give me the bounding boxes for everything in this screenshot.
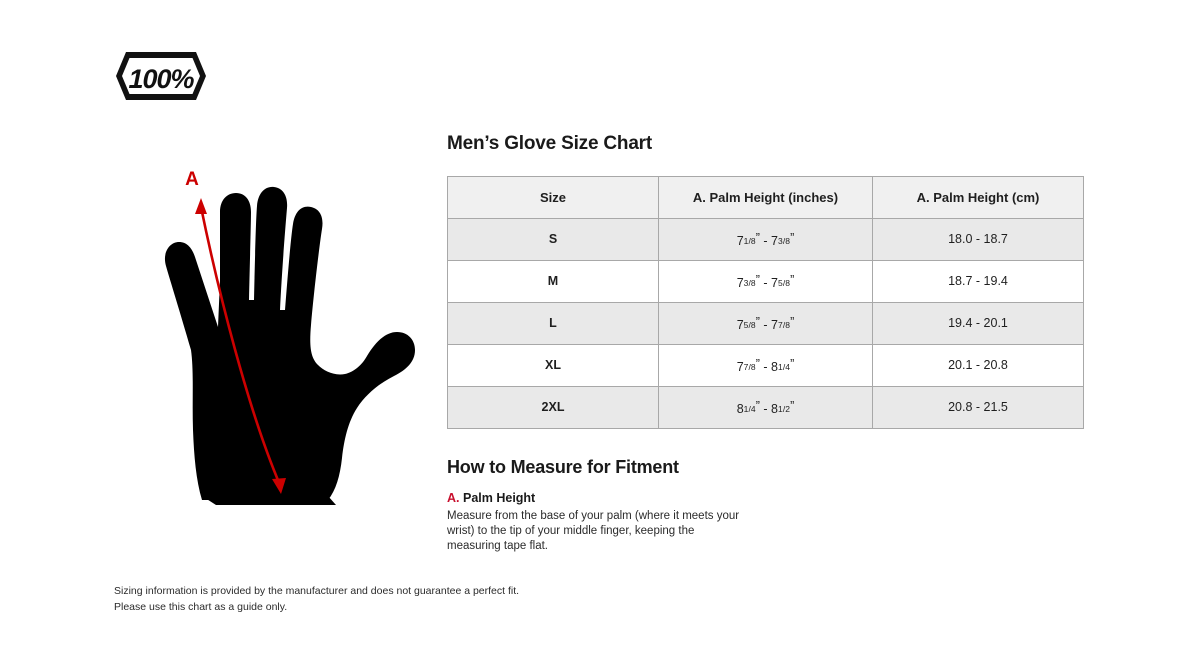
cell-cm: 18.7 - 19.4 [873,260,1084,302]
disclaimer-note: Sizing information is provided by the ma… [114,583,519,616]
column-header-cm: A. Palm Height (cm) [873,176,1084,218]
inches-frac-low: 5/8 [744,320,756,330]
inch-mark: ” [790,231,794,245]
inches-frac-high: 7/8 [778,320,790,330]
cell-inches: 75/8” - 77/8” [659,302,873,344]
cell-inches: 81/4” - 81/2” [659,386,873,428]
inches-frac-high: 1/2 [778,404,790,414]
inches-whole-low: 7 [737,234,744,248]
inches-whole-low: 7 [737,276,744,290]
inch-mark: ” [756,315,760,329]
inches-frac-low: 7/8 [744,362,756,372]
cell-size: XL [448,344,659,386]
glove-silhouette-icon [165,187,415,500]
measure-entry-text: Measure from the base of your palm (wher… [447,509,747,555]
column-header-size: Size [448,176,659,218]
inches-whole-high: 8 [771,402,778,416]
glove-cuff-icon [202,496,336,505]
inches-frac-high: 1/4 [778,362,790,372]
inch-mark: ” [756,231,760,245]
page-title: Men’s Glove Size Chart [447,134,1087,155]
how-to-measure-section: How to Measure for Fitment A. Palm Heigh… [447,457,1087,555]
table-row: 2XL 81/4” - 81/2” 20.8 - 21.5 [448,386,1084,428]
cell-cm: 20.8 - 21.5 [873,386,1084,428]
inches-frac-high: 3/8 [778,236,790,246]
cell-size: L [448,302,659,344]
cell-inches: 71/8” - 73/8” [659,218,873,260]
cell-inches: 77/8” - 81/4” [659,344,873,386]
inch-mark: ” [756,273,760,287]
cell-cm: 19.4 - 20.1 [873,302,1084,344]
disclaimer-line-1: Sizing information is provided by the ma… [114,583,519,599]
cell-size: 2XL [448,386,659,428]
inches-whole-high: 7 [771,234,778,248]
disclaimer-line-2: Please use this chart as a guide only. [114,599,519,615]
inch-mark: ” [756,357,760,371]
table-row: L 75/8” - 77/8” 19.4 - 20.1 [448,302,1084,344]
content-column: Men’s Glove Size Chart Size A. Palm Heig… [447,134,1087,555]
table-row: XL 77/8” - 81/4” 20.1 - 20.8 [448,344,1084,386]
table-row: S 71/8” - 73/8” 18.0 - 18.7 [448,218,1084,260]
inches-frac-low: 1/8 [744,236,756,246]
inch-mark: ” [790,315,794,329]
table-row: M 73/8” - 75/8” 18.7 - 19.4 [448,260,1084,302]
column-header-inches: A. Palm Height (inches) [659,176,873,218]
size-chart-table: Size A. Palm Height (inches) A. Palm Hei… [447,176,1084,429]
inches-whole-low: 7 [737,318,744,332]
inches-whole-high: 8 [771,360,778,374]
brand-logo: 100% [114,50,208,102]
inches-whole-high: 7 [771,318,778,332]
cell-cm: 18.0 - 18.7 [873,218,1084,260]
measure-entry-heading: A. Palm Height [447,491,1087,506]
inch-mark: ” [756,399,760,413]
measure-entry-letter: A. [447,491,460,505]
inches-frac-low: 1/4 [744,404,756,414]
measure-entry-name: Palm Height [463,491,535,505]
inch-mark: ” [790,273,794,287]
inch-mark: ” [790,399,794,413]
cell-inches: 73/8” - 75/8” [659,260,873,302]
table-header-row: Size A. Palm Height (inches) A. Palm Hei… [448,176,1084,218]
inches-whole-low: 8 [737,402,744,416]
inch-mark: ” [790,357,794,371]
cell-size: S [448,218,659,260]
svg-text:100%: 100% [128,64,194,94]
inches-frac-high: 5/8 [778,278,790,288]
measurement-label-a: A [185,169,199,190]
cell-cm: 20.1 - 20.8 [873,344,1084,386]
how-to-measure-title: How to Measure for Fitment [447,457,1087,478]
inches-frac-low: 3/8 [744,278,756,288]
inches-whole-high: 7 [771,276,778,290]
inches-whole-low: 7 [737,360,744,374]
hexagon-badge-icon: 100% [114,50,208,102]
cell-size: M [448,260,659,302]
glove-illustration: A [108,160,438,530]
